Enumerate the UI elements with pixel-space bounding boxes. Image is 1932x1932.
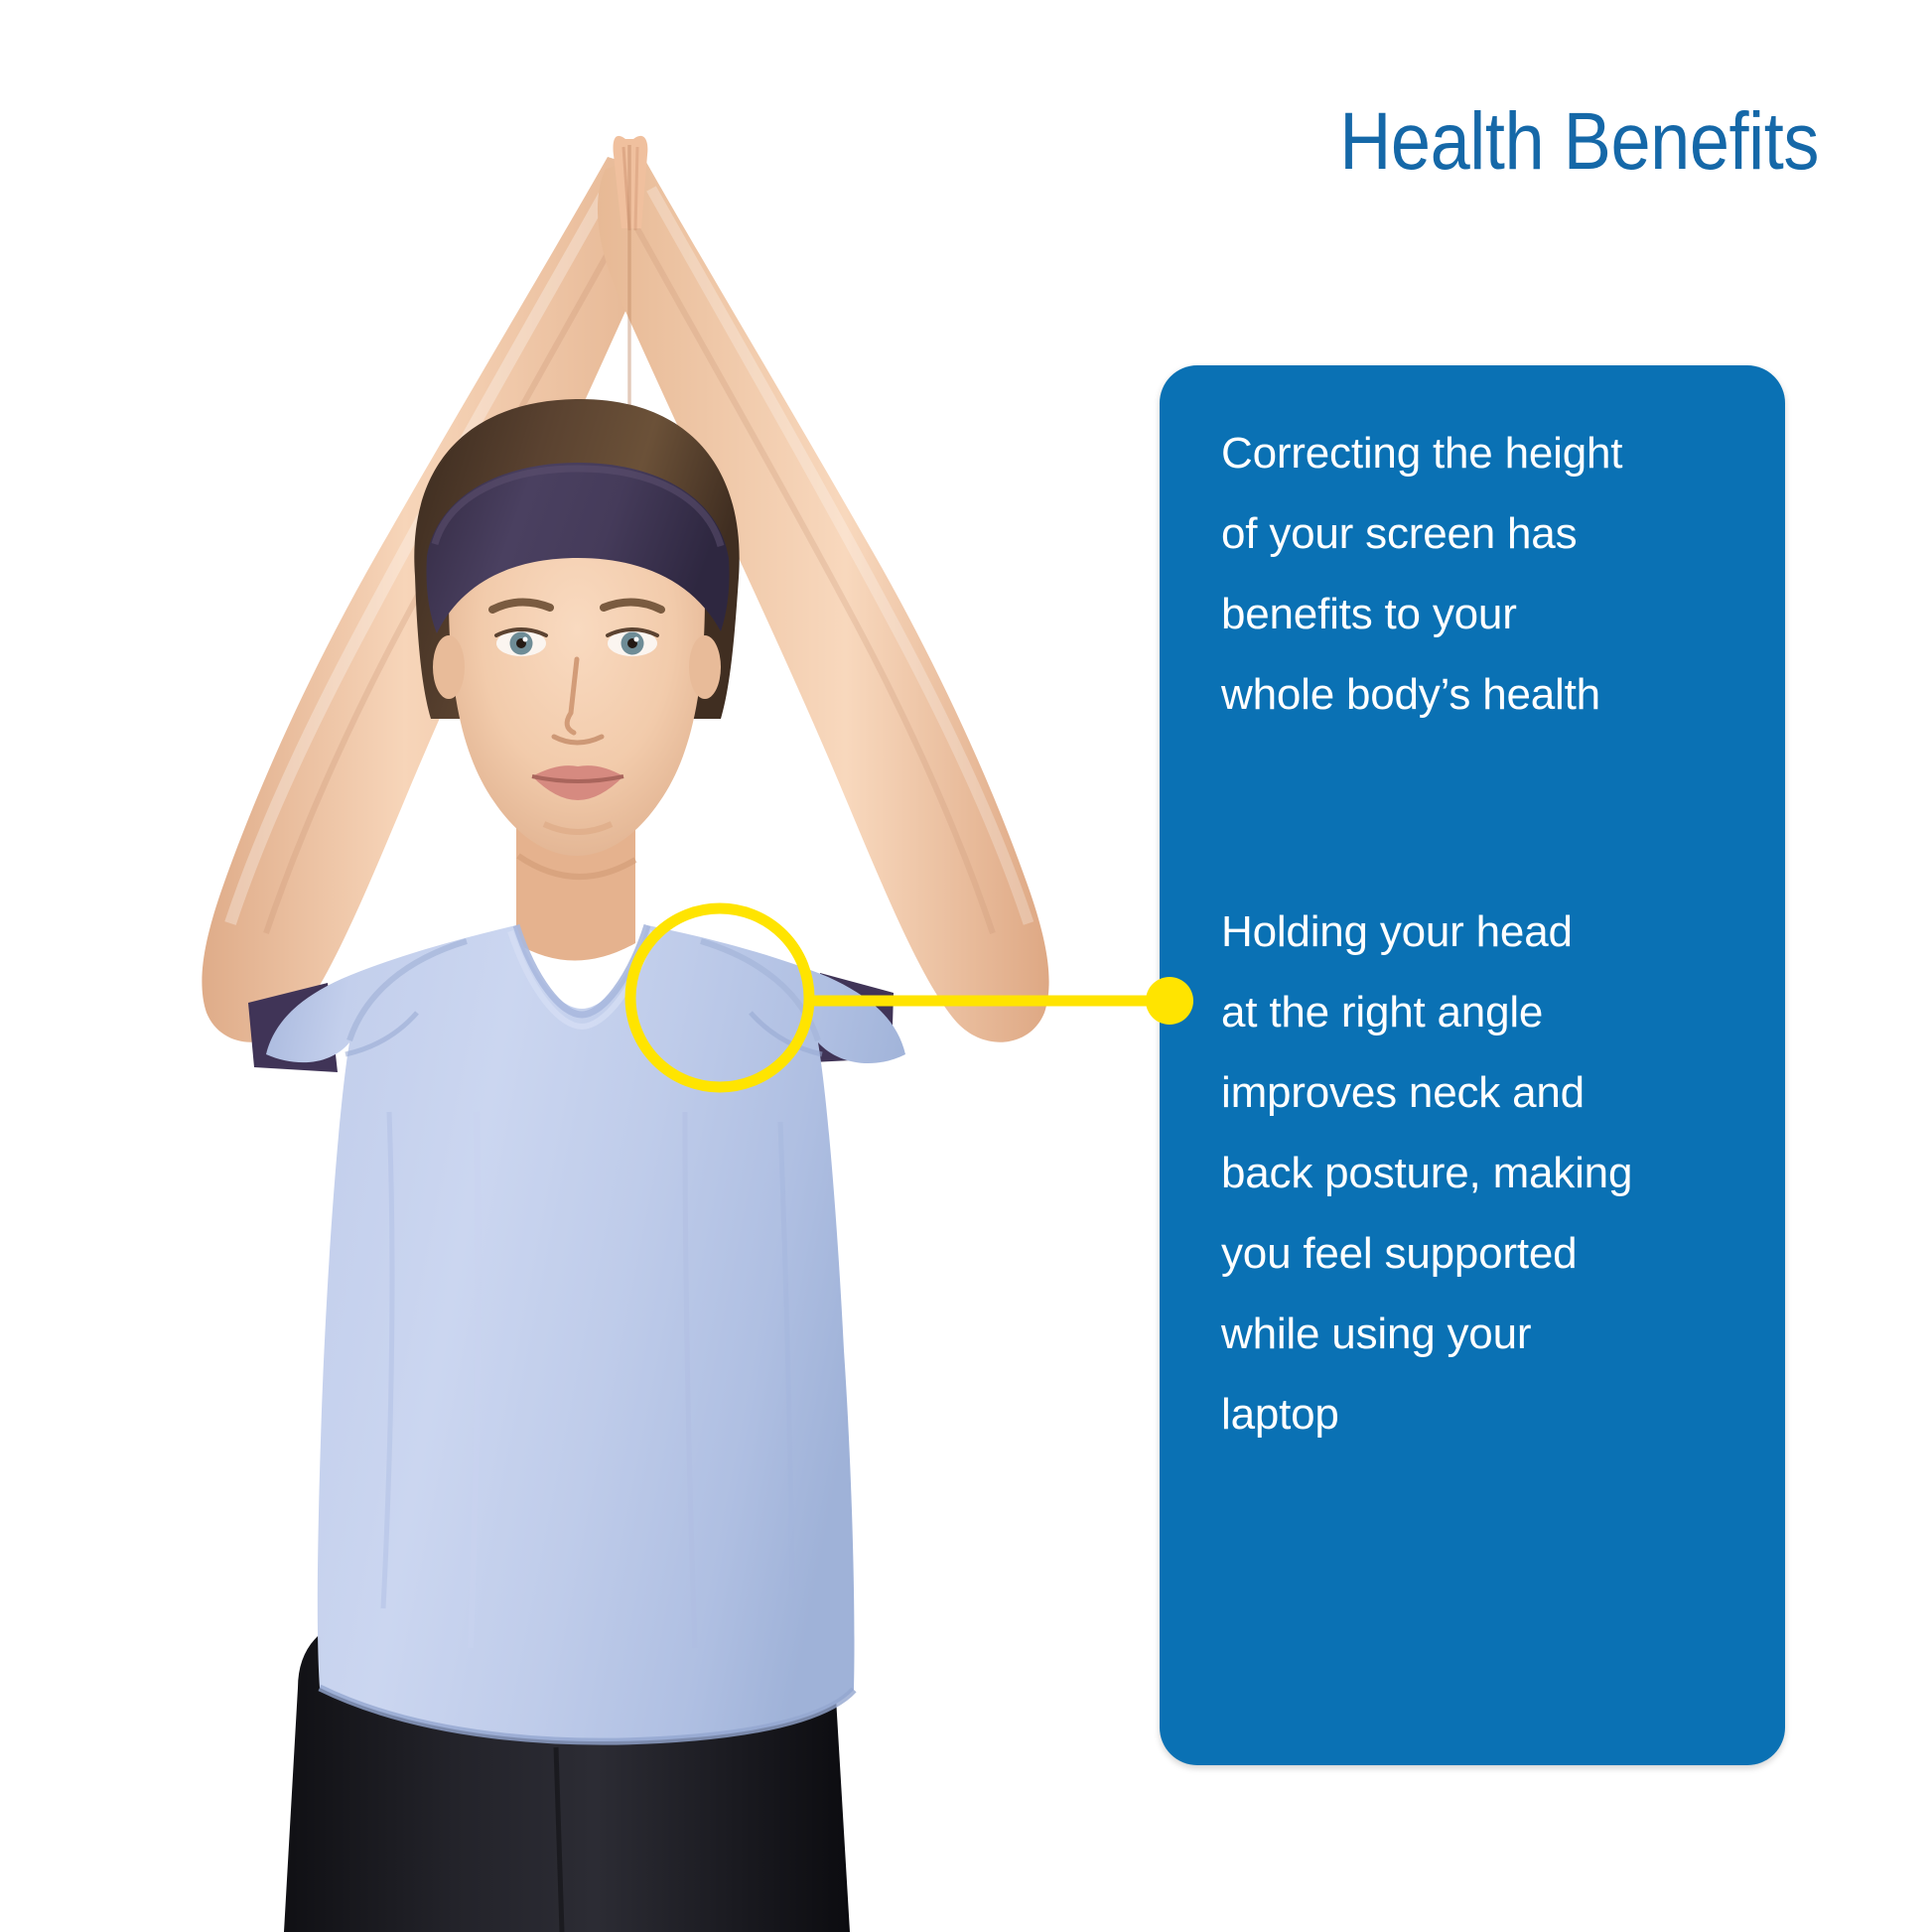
panel-line: whole body’s health [1221, 654, 1747, 735]
panel-paragraph-holding-head-right-angle: Holding your head at the right angle imp… [1221, 892, 1747, 1454]
panel-paragraph-correcting-screen-height: Correcting the height of your screen has… [1221, 413, 1747, 735]
panel-line: improves neck and [1221, 1052, 1747, 1133]
benefits-panel: Correcting the height of your screen has… [1160, 365, 1785, 1765]
photo-region [0, 0, 1152, 1932]
panel-line: Correcting the height [1221, 413, 1747, 493]
panel-line: at the right angle [1221, 972, 1747, 1052]
page-title: Health Benefits [1242, 101, 1819, 183]
panel-line: while using your [1221, 1294, 1747, 1374]
panel-line: laptop [1221, 1374, 1747, 1454]
woman-yoga-pose-illustration [0, 0, 1152, 1932]
panel-line: you feel supported [1221, 1213, 1747, 1294]
panel-line: Holding your head [1221, 892, 1747, 972]
poster-root: Health Benefits Correcting the height of… [0, 0, 1932, 1932]
panel-line: back posture, making [1221, 1133, 1747, 1213]
panel-line: benefits to your [1221, 574, 1747, 654]
tshirt [266, 925, 905, 1741]
panel-line: of your screen has [1221, 493, 1747, 574]
